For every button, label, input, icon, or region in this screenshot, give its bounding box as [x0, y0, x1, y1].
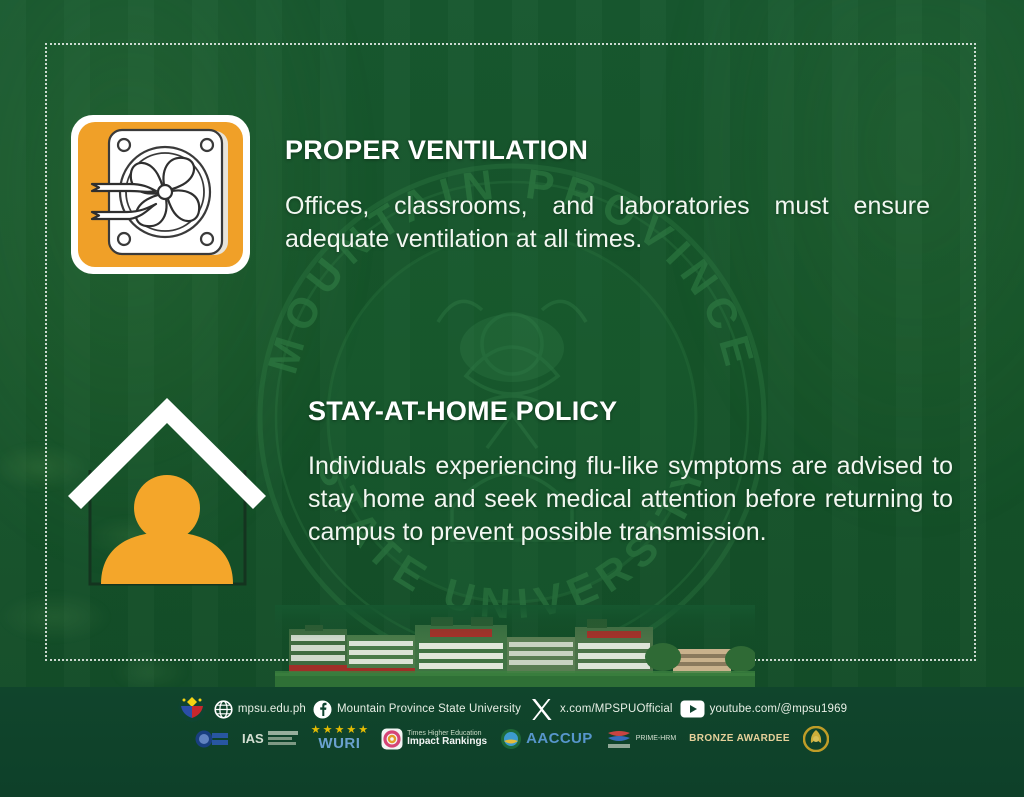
impact-rankings-icon: Times Higher Education Impact Rankings	[381, 728, 487, 750]
link-website-label: mpsu.edu.ph	[238, 703, 306, 715]
link-x-twitter[interactable]: x.com/MPSPUOfficial	[528, 696, 673, 723]
campus-buildings-photo	[275, 605, 755, 687]
csc-prime-hrm-label: PRIME-HRM	[636, 735, 676, 742]
laurel-wreath-icon	[803, 726, 829, 752]
exhaust-fan-icon	[68, 112, 253, 282]
accreditation-logos-row: IAS ★ ★ ★ ★ ★ WURI	[0, 725, 1024, 753]
aaccup-icon: AACCUP	[500, 728, 593, 750]
link-facebook[interactable]: Mountain Province State University	[313, 700, 521, 719]
house-person-icon	[60, 392, 275, 597]
impact-rankings-label: Impact Rankings	[407, 737, 487, 748]
globe-icon	[214, 700, 233, 719]
facebook-icon	[313, 700, 332, 719]
link-x-twitter-label: x.com/MPSPUOfficial	[560, 703, 673, 715]
section-stay-at-home-policy: STAY-AT-HOME POLICY Individuals experien…	[60, 392, 953, 597]
section-headline: STAY-AT-HOME POLICY	[308, 397, 953, 427]
philippine-government-seal-icon	[177, 693, 207, 725]
section-proper-ventilation: PROPER VENTILATION Offices, classrooms, …	[68, 112, 930, 282]
link-website[interactable]: mpsu.edu.ph	[214, 700, 306, 719]
ias-label: IAS	[242, 732, 264, 746]
x-twitter-icon	[528, 696, 555, 723]
wurj-stars-icon: ★ ★ ★ ★ ★ WURI	[311, 725, 368, 753]
youtube-icon	[680, 700, 705, 718]
link-facebook-label: Mountain Province State University	[337, 703, 521, 715]
section-body-text: Offices, classrooms, and laboratories mu…	[285, 190, 930, 256]
poster-footer: mpsu.edu.ph Mountain Province State Univ…	[0, 687, 1024, 797]
iso-certification-icon	[195, 728, 229, 750]
wurj-label: WURI	[318, 736, 360, 753]
link-youtube-label: youtube.com/@mpsu1969	[710, 703, 848, 715]
social-links-row: mpsu.edu.ph Mountain Province State Univ…	[0, 693, 1024, 725]
poster-canvas: MOUNTAIN PROVINCE STATE UNIVERSITY	[0, 0, 1024, 797]
section-headline: PROPER VENTILATION	[285, 136, 930, 166]
ias-anab-icon: IAS	[242, 729, 298, 749]
section-body-text: Individuals experiencing flu-like sympto…	[308, 450, 953, 549]
bronze-awardee-label: BRONZE AWARDEE	[689, 733, 790, 744]
aaccup-label: AACCUP	[526, 730, 593, 747]
csc-prime-hrm-icon: PRIME-HRM	[606, 728, 676, 750]
link-youtube[interactable]: youtube.com/@mpsu1969	[680, 700, 848, 718]
bronze-awardee-icon: BRONZE AWARDEE	[689, 733, 790, 744]
